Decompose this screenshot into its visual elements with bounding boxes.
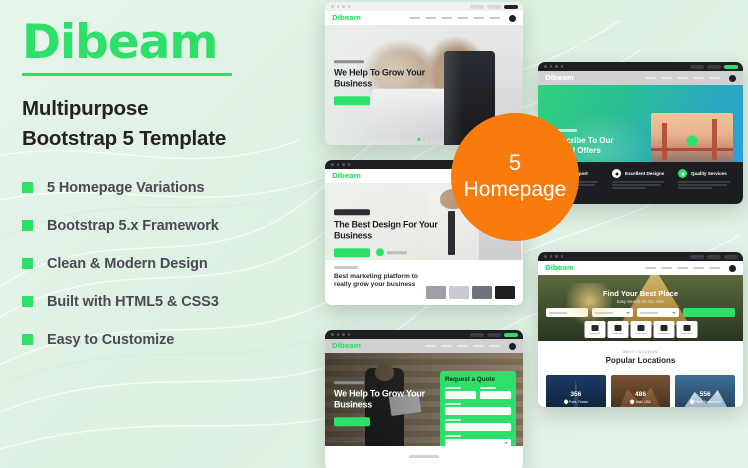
browser-chrome — [325, 2, 523, 11]
category-label — [681, 333, 692, 335]
topbar-cta-pill — [724, 65, 738, 69]
hero-eyebrow — [334, 60, 364, 63]
carousel-dots[interactable] — [418, 138, 431, 141]
window-dot-icon — [348, 333, 351, 336]
feature-head: Quality Services — [678, 169, 735, 178]
nav-logo: Dibeam — [332, 172, 361, 180]
headline-line-1: Multipurpose — [22, 94, 330, 124]
site-navbar: Dibeam — [538, 261, 743, 275]
email-label — [445, 419, 461, 421]
feature-text-line — [678, 187, 712, 189]
nav-logo: Dibeam — [545, 264, 574, 272]
nav-links — [425, 343, 516, 350]
first-name-input[interactable] — [445, 391, 476, 399]
feature-label: Easy to Customize — [47, 332, 174, 348]
window-dot-icon — [331, 5, 334, 8]
nav-logo: Dibeam — [332, 14, 361, 22]
nav-link — [693, 267, 704, 270]
nav-logo: Dibeam — [545, 74, 574, 82]
nav-link — [409, 17, 420, 20]
category-food[interactable] — [584, 321, 605, 338]
nav-links — [645, 75, 736, 82]
feature-label: Bootstrap 5.x Framework — [47, 218, 219, 234]
window-dot-icon — [342, 5, 345, 8]
section-title: Popular Locations — [538, 356, 743, 365]
design-icon — [612, 169, 621, 178]
chevron-down-icon — [672, 312, 676, 314]
nav-links — [645, 265, 736, 272]
location-meta: Bern, Switzerland — [675, 400, 735, 404]
thumbnail — [426, 286, 446, 299]
location-card[interactable]: 356 Paris, France — [546, 375, 606, 407]
location-meta: Utah, USA — [611, 400, 671, 404]
feature-text-line — [612, 187, 646, 189]
topbar-pill — [470, 333, 484, 337]
fitness-icon — [660, 325, 667, 331]
site-navbar: Dibeam — [538, 71, 743, 85]
feature-label: 5 Homepage Variations — [47, 180, 204, 196]
browser-chrome — [325, 330, 523, 339]
nav-link — [473, 17, 484, 20]
category-placeholder — [595, 312, 613, 314]
feature-text-line — [612, 181, 664, 183]
list-item: Built with HTML5 & CSS3 — [22, 294, 330, 310]
hero-title: We Help To Grow Your Business — [334, 67, 444, 90]
bullet-square-icon — [22, 220, 33, 231]
list-item: Bootstrap 5.x Framework — [22, 218, 330, 234]
nav-link — [457, 345, 468, 348]
nav-link — [677, 267, 688, 270]
watch-video-button[interactable] — [376, 248, 407, 256]
map-pin-icon — [689, 399, 694, 404]
bridge-deck — [651, 148, 733, 151]
search-button[interactable] — [683, 308, 735, 317]
list-item: Easy to Customize — [22, 332, 330, 348]
category-shortcuts[interactable] — [584, 321, 697, 338]
form-title: Request a Quote — [445, 376, 511, 383]
carousel-dot-active[interactable] — [418, 138, 421, 141]
search-icon — [509, 15, 516, 22]
feature-text-line — [678, 181, 730, 183]
feature-title: Excellent Designs — [625, 171, 664, 176]
homepage-count-badge: 5 Homepage — [451, 113, 579, 241]
map-pin-icon — [563, 399, 568, 404]
site-navbar: Dibeam — [325, 339, 523, 353]
section-title: Best marketing platform to really grow y… — [334, 273, 430, 291]
feature-text-line — [678, 184, 727, 186]
topbar-pill — [707, 255, 721, 259]
tie-detail — [448, 211, 455, 255]
weekend-icon — [683, 325, 690, 331]
chevron-down-icon — [626, 312, 630, 314]
mockup-directory-homepage[interactable]: Dibeam Find Your Best Place Easy Search … — [538, 252, 743, 407]
hero-section: We Help To Grow Your Business Request a … — [325, 353, 523, 459]
category-hotels[interactable] — [607, 321, 628, 338]
location-cards: 356 Paris, France 486 Utah, USA 556 — [546, 375, 735, 407]
window-dot-icon — [337, 333, 340, 336]
carousel-dot[interactable] — [423, 138, 426, 141]
about-section: Best marketing platform to really grow y… — [325, 260, 523, 305]
browser-chrome — [538, 252, 743, 261]
headline-line-2: Bootstrap 5 Template — [22, 124, 330, 154]
food-icon — [591, 325, 598, 331]
nav-link — [457, 17, 468, 20]
event-icon — [637, 325, 644, 331]
phone-input[interactable] — [445, 407, 511, 415]
brand-underline — [22, 73, 232, 76]
topbar-cta-pill — [504, 5, 518, 9]
window-dot-icon — [342, 163, 345, 166]
nav-link — [661, 77, 672, 80]
thumbnail-strip — [426, 286, 515, 299]
location-placeholder — [640, 312, 658, 314]
category-label — [589, 333, 600, 335]
window-dot-icon — [544, 255, 547, 258]
category-label — [658, 333, 669, 335]
feature-list: 5 Homepage Variations Bootstrap 5.x Fram… — [22, 180, 330, 348]
bullet-square-icon — [22, 296, 33, 307]
location-meta: Paris, France — [546, 400, 606, 404]
popular-locations-section: BEST LOCATION Popular Locations 356 Pari… — [538, 341, 743, 407]
section-eyebrow: BEST LOCATION — [538, 350, 743, 354]
feature-text-line — [612, 184, 661, 186]
nav-link — [425, 345, 436, 348]
play-icon — [376, 248, 384, 256]
category-fitness[interactable] — [653, 321, 674, 338]
nav-link — [693, 77, 704, 80]
bullet-square-icon — [22, 334, 33, 345]
subject-label — [445, 435, 461, 437]
category-events[interactable] — [630, 321, 651, 338]
play-icon[interactable] — [687, 136, 698, 147]
window-dot-icon — [561, 255, 564, 258]
first-name-label — [445, 387, 461, 389]
feature-title: Quality Services — [691, 171, 727, 176]
search-icon — [729, 75, 736, 82]
bullet-square-icon — [22, 258, 33, 269]
location-card[interactable]: 486 Utah, USA — [611, 375, 671, 407]
location-count: 486 — [611, 391, 671, 398]
hero-content: We Help To Grow Your Business — [334, 381, 444, 431]
category-label — [612, 333, 623, 335]
topbar-cta-pill — [504, 333, 518, 337]
list-item: 5 Homepage Variations — [22, 180, 330, 196]
watch-video-label — [387, 251, 407, 254]
window-dot-icon — [342, 333, 345, 336]
window-dot-icon — [544, 65, 547, 68]
hero-content: The Best Design For Your Business — [334, 209, 444, 257]
bridge-photo-card[interactable] — [651, 113, 733, 169]
carousel-dot[interactable] — [428, 138, 431, 141]
nav-link — [489, 345, 500, 348]
last-name-label — [480, 387, 496, 389]
category-select[interactable] — [592, 308, 634, 317]
left-panel: Dibeam Multipurpose Bootstrap 5 Template… — [0, 0, 330, 468]
hero-cta-button[interactable] — [334, 96, 370, 105]
topbar-actions — [470, 333, 523, 337]
hotel-icon — [614, 325, 621, 331]
map-pin-icon — [629, 399, 634, 404]
window-dot-icon — [555, 255, 558, 258]
location-select[interactable] — [637, 308, 679, 317]
feature-head: Excellent Designs — [612, 169, 669, 178]
bullet-square-icon — [22, 182, 33, 193]
hero-subtitle: Easy Search 10.431 Jobs — [538, 299, 743, 304]
window-dot-icon — [555, 65, 558, 68]
hero-eyebrow-chip — [334, 209, 370, 215]
nav-link — [661, 267, 672, 270]
list-item: Clean & Modern Design — [22, 256, 330, 272]
email-input[interactable] — [445, 423, 511, 431]
hero-content: We Help To Grow Your Business — [334, 60, 444, 110]
nav-link — [677, 77, 688, 80]
name-row — [445, 387, 511, 403]
browser-chrome — [538, 62, 743, 71]
feature-label: Built with HTML5 & CSS3 — [47, 294, 219, 310]
footer-strip — [325, 446, 523, 468]
category-weekend[interactable] — [676, 321, 697, 338]
hero-section: Find Your Best Place Easy Search 10.431 … — [538, 275, 743, 341]
badge-number: 5 — [509, 152, 521, 174]
window-dot-icon — [337, 5, 340, 8]
search-icon — [509, 343, 516, 350]
phone-label — [445, 403, 461, 405]
window-dot-icon — [348, 163, 351, 166]
hero-title: The Best Design For Your Business — [334, 219, 444, 242]
nav-link — [425, 17, 436, 20]
topbar-actions — [470, 5, 523, 9]
topbar-pill — [470, 5, 484, 9]
site-navbar: Dibeam — [325, 11, 523, 25]
search-input[interactable] — [546, 308, 588, 317]
topbar-actions — [690, 255, 743, 259]
search-icon — [729, 265, 736, 272]
window-dot-icon — [561, 65, 564, 68]
nav-link — [489, 17, 500, 20]
section-eyebrow — [334, 266, 358, 269]
topbar-pill — [487, 5, 501, 9]
feature-label: Clean & Modern Design — [47, 256, 208, 272]
hero-cta-button[interactable] — [334, 417, 370, 426]
location-count: 356 — [546, 391, 606, 398]
hero-title: Find Your Best Place — [538, 289, 743, 298]
chevron-down-icon — [504, 442, 508, 444]
location-label: Paris, France — [569, 400, 588, 404]
nav-link — [473, 345, 484, 348]
window-dot-icon — [337, 163, 340, 166]
location-label: Utah, USA — [636, 400, 651, 404]
feature-card: Excellent Designs — [612, 169, 669, 197]
location-count: 556 — [675, 391, 735, 398]
nav-link — [441, 17, 452, 20]
search-bar[interactable] — [546, 308, 735, 317]
location-card[interactable]: 556 Bern, Switzerland — [675, 375, 735, 407]
nav-link — [441, 345, 452, 348]
mockup-quote-homepage[interactable]: Dibeam We Help To Grow Your Business Req… — [325, 330, 523, 468]
search-placeholder — [549, 312, 567, 314]
topbar-pill — [690, 255, 704, 259]
nav-logo: Dibeam — [332, 342, 361, 350]
hero-cta-button[interactable] — [334, 248, 370, 257]
topbar-pill — [724, 255, 738, 259]
hero-actions — [334, 248, 444, 257]
badge-label: Homepage — [464, 178, 567, 202]
quality-icon — [678, 169, 687, 178]
nav-links — [409, 15, 516, 22]
promo-banner: Dibeam Multipurpose Bootstrap 5 Template… — [0, 0, 748, 468]
thumbnail — [449, 286, 469, 299]
topbar-pill — [707, 65, 721, 69]
nav-link — [645, 77, 656, 80]
topbar-actions — [690, 65, 743, 69]
topbar-pill — [487, 333, 501, 337]
hero-title: We Help To Grow Your Business — [334, 388, 444, 411]
brand-title: Dibeam — [22, 18, 330, 67]
nav-link — [645, 267, 656, 270]
last-name-input[interactable] — [480, 391, 511, 399]
window-dot-icon — [348, 5, 351, 8]
feature-card: Quality Services — [678, 169, 735, 197]
category-label — [635, 333, 646, 335]
window-dot-icon — [550, 255, 553, 258]
headline: Multipurpose Bootstrap 5 Template — [22, 94, 330, 153]
window-dot-icon — [550, 65, 553, 68]
location-label: Bern, Switzerland — [695, 400, 720, 404]
window-dot-icon — [331, 163, 334, 166]
topbar-pill — [690, 65, 704, 69]
thumbnail — [495, 286, 515, 299]
footer-eyebrow — [409, 455, 439, 458]
window-dot-icon — [331, 333, 334, 336]
thumbnail — [472, 286, 492, 299]
nav-link — [709, 267, 720, 270]
hero-eyebrow — [334, 381, 364, 384]
nav-link — [709, 77, 720, 80]
